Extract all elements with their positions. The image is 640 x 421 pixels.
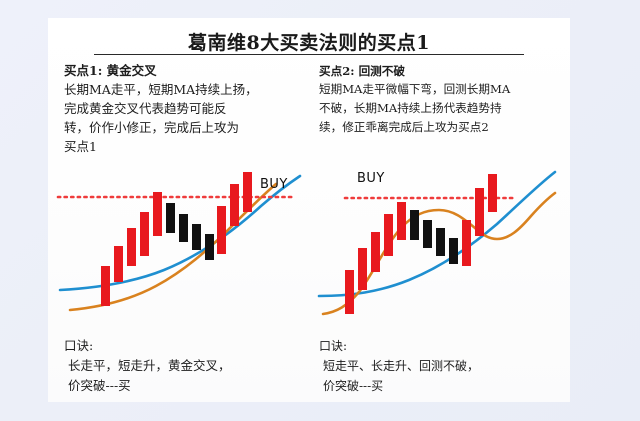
chart-1-svg: BUY bbox=[56, 166, 306, 318]
buy-label: BUY bbox=[357, 171, 385, 186]
panel-2-body-line-2: 不破，长期MA持续上扬代表趋势持 bbox=[319, 99, 559, 118]
panel-2-body-line-1: 短期MA走平微幅下弯，回测长期MA bbox=[319, 80, 559, 99]
buy-label: BUY bbox=[260, 177, 288, 192]
candle-down-6 bbox=[410, 210, 419, 240]
screenshot-root: 葛南维8大买卖法则的买点1 买点1: 黄金交叉 长期MA走平，短期MA持续上扬，… bbox=[0, 0, 640, 421]
panel-1-mnemonic-line-2: 价突破---买 bbox=[64, 376, 302, 396]
candle-down-8 bbox=[436, 228, 445, 256]
content-card: 葛南维8大买卖法则的买点1 买点1: 黄金交叉 长期MA走平，短期MA持续上扬，… bbox=[48, 18, 570, 402]
chart-2-svg: BUY bbox=[317, 166, 567, 318]
candle-up-1 bbox=[345, 270, 354, 314]
panel-1-body-line-3: 转，价作小修正，完成后上攻为 bbox=[64, 118, 304, 137]
chart-buy-point-1: BUY bbox=[56, 166, 304, 316]
candle-down-9 bbox=[205, 234, 214, 260]
panel-buy-point-2: 买点2: 回测不破 短期MA走平微幅下弯，回测长期MA 不破，长期MA持续上扬代… bbox=[309, 58, 570, 402]
candle-down-6 bbox=[166, 203, 175, 233]
page-title: 葛南维8大买卖法则的买点1 bbox=[48, 28, 570, 55]
panel-2-mnemonic-line-1: 短走平、长走升、回测不破， bbox=[319, 356, 557, 376]
panel-2-body-line-3: 续，修正乖离完成后上攻为买点2 bbox=[319, 118, 559, 137]
candle-up-1 bbox=[101, 266, 110, 306]
panel-2-heading: 买点2: 回测不破 bbox=[319, 62, 559, 80]
candle-down-8 bbox=[192, 224, 201, 250]
panel-1-body-line-2: 完成黄金交叉代表趋势可能反 bbox=[64, 99, 304, 118]
candle-up-2 bbox=[358, 248, 367, 290]
panel-1-heading: 买点1: 黄金交叉 bbox=[64, 62, 304, 80]
candle-up-12 bbox=[243, 172, 252, 212]
candle-up-12 bbox=[488, 174, 497, 212]
candle-up-5 bbox=[397, 202, 406, 240]
candle-series bbox=[101, 172, 252, 306]
candle-up-10 bbox=[217, 206, 226, 254]
panel-buy-point-1: 买点1: 黄金交叉 长期MA走平，短期MA持续上扬， 完成黄金交叉代表趋势可能反… bbox=[48, 58, 309, 402]
candle-up-11 bbox=[475, 188, 484, 236]
panel-2-mnemonic-title: 口诀: bbox=[319, 336, 557, 356]
candle-down-7 bbox=[179, 214, 188, 242]
candle-up-2 bbox=[114, 246, 123, 282]
panel-1-body-line-4: 买点1 bbox=[64, 137, 304, 156]
candle-down-7 bbox=[423, 220, 432, 248]
panels-container: 买点1: 黄金交叉 长期MA走平，短期MA持续上扬， 完成黄金交叉代表趋势可能反… bbox=[48, 58, 570, 402]
candle-up-5 bbox=[153, 192, 162, 236]
panel-1-mnemonic-title: 口诀: bbox=[64, 336, 302, 356]
panel-1-text-block: 买点1: 黄金交叉 长期MA走平，短期MA持续上扬， 完成黄金交叉代表趋势可能反… bbox=[64, 62, 304, 156]
panel-2-text-block: 买点2: 回测不破 短期MA走平微幅下弯，回测长期MA 不破，长期MA持续上扬代… bbox=[319, 62, 559, 137]
candle-up-11 bbox=[230, 184, 239, 226]
panel-2-mnemonic-block: 口诀: 短走平、长走升、回测不破， 价突破---买 bbox=[319, 336, 557, 396]
panel-2-mnemonic-line-2: 价突破---买 bbox=[319, 376, 557, 396]
panel-1-body-line-1: 长期MA走平，短期MA持续上扬， bbox=[64, 80, 304, 99]
panel-1-mnemonic-block: 口诀: 长走平，短走升，黄金交叉， 价突破---买 bbox=[64, 336, 302, 396]
candle-up-3 bbox=[371, 232, 380, 272]
title-underline bbox=[94, 54, 524, 55]
candle-up-10 bbox=[462, 220, 471, 266]
candle-up-4 bbox=[140, 212, 149, 256]
panel-1-mnemonic-line-1: 长走平，短走升，黄金交叉， bbox=[64, 356, 302, 376]
candle-up-3 bbox=[127, 228, 136, 266]
candle-down-9 bbox=[449, 238, 458, 264]
candle-up-4 bbox=[384, 214, 393, 256]
chart-buy-point-2: BUY bbox=[317, 166, 565, 316]
